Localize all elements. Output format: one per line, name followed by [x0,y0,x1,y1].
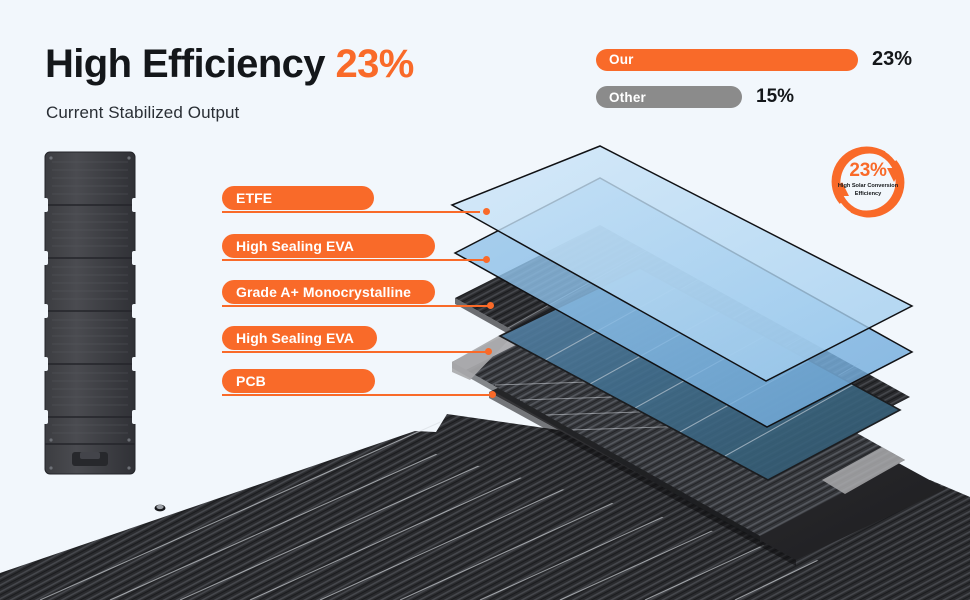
layer-leader-eva-top [222,259,484,261]
layer-leader-etfe [222,211,480,213]
layer-leader-eva-bottom [222,351,486,353]
layer-dot-pcb [489,391,496,398]
infographic-stage: High Efficiency 23% Current Stabilized O… [0,0,970,600]
layer-dot-etfe [483,208,490,215]
layer-dot-monocrystalline [487,302,494,309]
layer-pill-eva-top[interactable]: High Sealing EVA [222,234,435,258]
layer-leader-pcb [222,394,490,396]
layer-pill-monocrystalline[interactable]: Grade A+ Monocrystalline [222,280,435,304]
layer-dot-eva-top [483,256,490,263]
layer-callouts: ETFE High Sealing EVA Grade A+ Monocryst… [0,0,970,600]
layer-leader-monocrystalline [222,305,488,307]
layer-pill-etfe[interactable]: ETFE [222,186,374,210]
layer-dot-eva-bottom [485,348,492,355]
layer-pill-eva-bottom[interactable]: High Sealing EVA [222,326,377,350]
layer-pill-pcb[interactable]: PCB [222,369,375,393]
